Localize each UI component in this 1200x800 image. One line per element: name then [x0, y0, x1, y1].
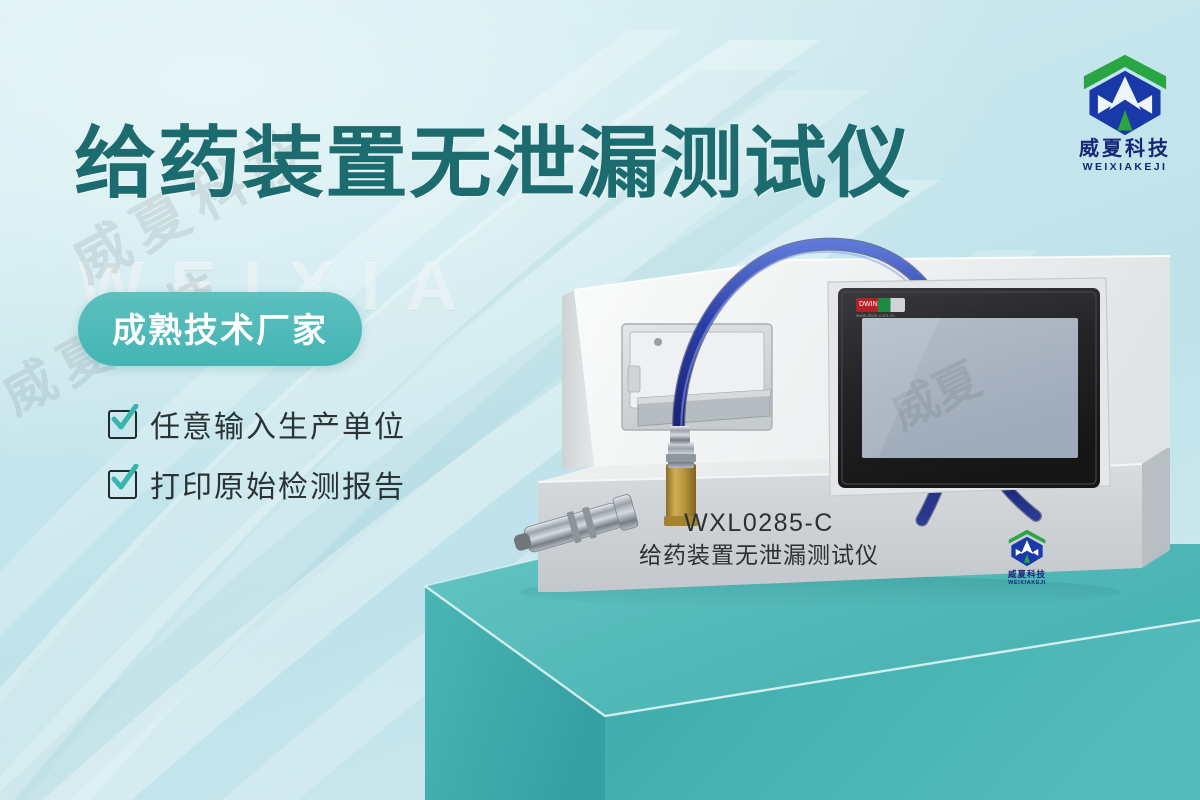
feature-label: 打印原始检测报告 — [150, 462, 406, 506]
device-logo-cn: 威夏科技 — [997, 568, 1057, 580]
company-name-cn: 威夏科技 — [1060, 139, 1190, 160]
list-item: 打印原始检测报告 — [108, 462, 406, 506]
device-product-name: 给药装置无泄漏测试仪 — [594, 541, 924, 571]
page-title: 给药装置无泄漏测试仪 — [74, 124, 911, 202]
device-front-label: WXL0285-C 给药装置无泄漏测试仪 — [594, 508, 924, 571]
promo-banner: WEIXIA — [0, 0, 1200, 800]
checkbox-checked-icon — [108, 470, 137, 499]
company-logo: 威夏科技 WEIXIAKEJI — [1060, 52, 1190, 173]
company-name-en: WEIXIAKEJI — [1060, 161, 1190, 173]
check-mark-icon — [109, 404, 139, 434]
hmi-touchscreen: 威夏 — [828, 278, 1110, 496]
brand-hexagon-icon — [1077, 52, 1173, 138]
checkbox-checked-icon — [108, 410, 137, 439]
tagline-pill: 成熟技术厂家 — [78, 292, 362, 366]
check-mark-icon — [109, 464, 139, 494]
brand-hexagon-icon — [1005, 528, 1049, 568]
feature-list: 任意输入生产单位 打印原始检测报告 — [108, 402, 406, 522]
device-front-logo: 威夏科技 WEIXIAKEJI — [997, 528, 1057, 586]
list-item: 任意输入生产单位 — [108, 402, 406, 446]
device-logo-en: WEIXIAKEJI — [997, 580, 1057, 586]
device-model-number: WXL0285-C — [594, 508, 924, 539]
feature-label: 任意输入生产单位 — [150, 402, 406, 446]
